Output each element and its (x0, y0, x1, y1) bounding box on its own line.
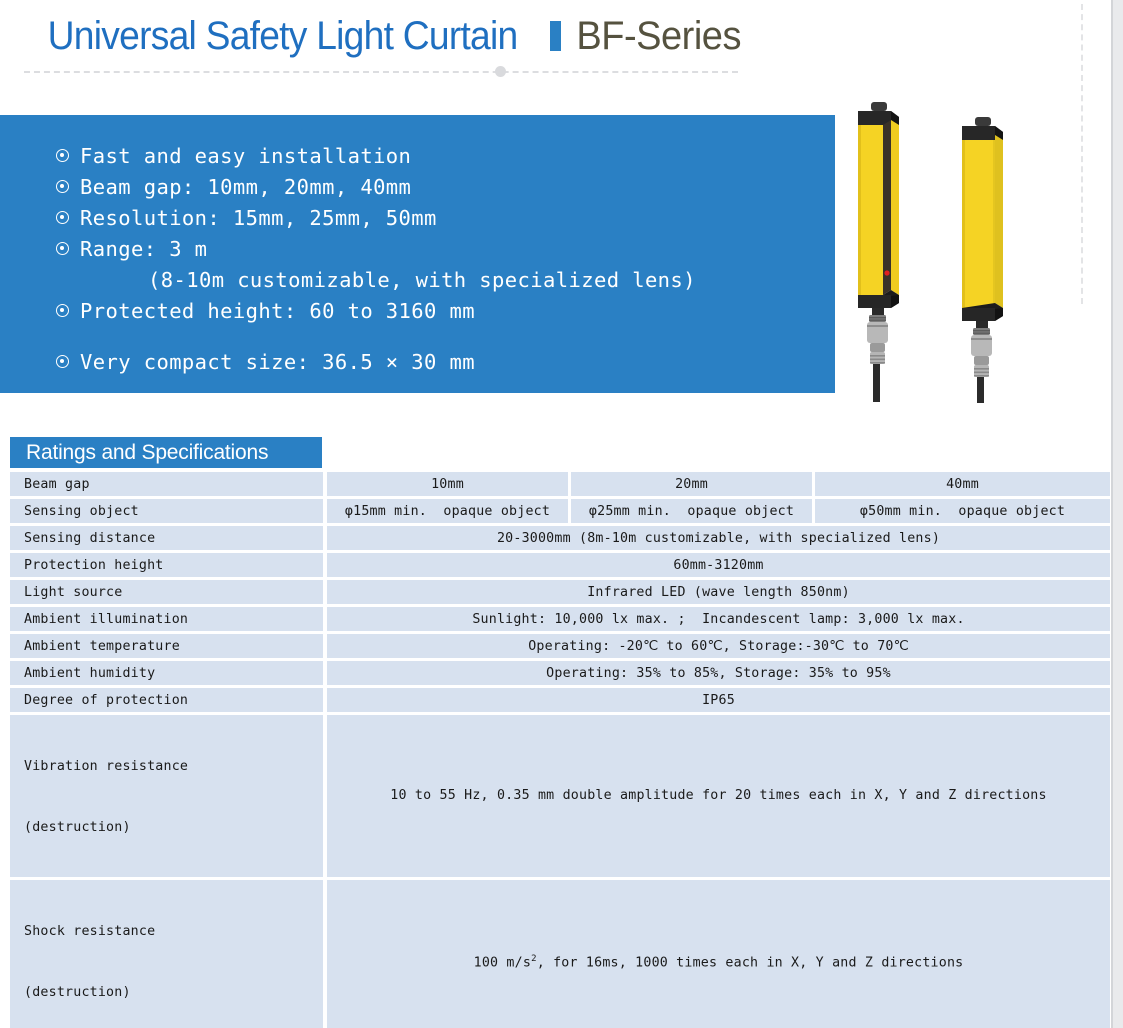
product-image (825, 95, 1075, 405)
bullet-circle-dot-icon (56, 211, 69, 224)
row-label: Sensing object (10, 499, 327, 523)
feature-item: Resolution: 15mm, 25mm, 50mm (56, 203, 816, 234)
row-label: Ambient illumination (10, 607, 327, 631)
row-value: Operating: -20℃ to 60℃, Storage:-30℃ to … (327, 634, 1110, 658)
table-row: Sensing object φ15mm min. opaque object … (10, 499, 1110, 523)
row-label-line1: Shock resistance (24, 920, 323, 941)
row-label: Ambient humidity (10, 661, 327, 685)
feature-item: Beam gap: 10mm, 20mm, 40mm (56, 172, 816, 203)
row-value: IP65 (327, 688, 1110, 712)
feature-item: Very compact size: 36.5 × 30 mm (56, 347, 816, 378)
feature-list: Fast and easy installation Beam gap: 10m… (56, 141, 816, 378)
table-row: Ambient humidity Operating: 35% to 85%, … (10, 661, 1110, 685)
row-value-40mm: φ50mm min. opaque object (815, 499, 1110, 523)
bullet-circle-dot-icon (56, 149, 69, 162)
row-label: Degree of protection (10, 688, 327, 712)
row-value-20mm: 20mm (571, 472, 815, 496)
row-label: Beam gap (10, 472, 327, 496)
row-value: 60mm-3120mm (327, 553, 1110, 577)
table-row: Sensing distance 20-3000mm (8m-10m custo… (10, 526, 1110, 550)
row-value: Operating: 35% to 85%, Storage: 35% to 9… (327, 661, 1110, 685)
feature-label: Fast and easy installation (80, 141, 411, 172)
row-value: Infrared LED (wave length 850nm) (327, 580, 1110, 604)
title-dashed-divider (24, 71, 738, 73)
table-row: Light source Infrared LED (wave length 8… (10, 580, 1110, 604)
page-fold-dashed-line (1081, 4, 1083, 304)
page-edge-strip (1113, 0, 1123, 1028)
bullet-circle-dot-icon (56, 180, 69, 193)
feature-banner: Fast and easy installation Beam gap: 10m… (0, 115, 835, 393)
table-row: Vibration resistance (destruction) 10 to… (10, 715, 1110, 877)
table-row: Shock resistance (destruction) 100 m/s2,… (10, 880, 1110, 1028)
feature-label: Very compact size: 36.5 × 30 mm (80, 347, 475, 378)
value-prefix: 100 m/s (474, 955, 531, 970)
row-label-line2: (destruction) (24, 981, 323, 1002)
row-label-line1: Vibration resistance (24, 755, 323, 776)
feature-sub-note: (8-10m customizable, with specialized le… (56, 265, 816, 296)
title-series-text: BF-Series (576, 14, 741, 59)
bullet-circle-dot-icon (56, 304, 69, 317)
table-row: Protection height 60mm-3120mm (10, 553, 1110, 577)
feature-item: Fast and easy installation (56, 141, 816, 172)
row-label: Light source (10, 580, 327, 604)
feature-label: Beam gap: 10mm, 20mm, 40mm (80, 172, 411, 203)
title-divider-dot (495, 66, 506, 77)
row-value-10mm: 10mm (327, 472, 571, 496)
feature-label: Range: 3 m (80, 234, 207, 265)
bullet-circle-dot-icon (56, 355, 69, 368)
row-label: Vibration resistance (destruction) (10, 715, 327, 877)
row-value-40mm: 40mm (815, 472, 1110, 496)
specifications-table: Beam gap 10mm 20mm 40mm Sensing object φ… (10, 469, 1110, 1028)
row-label: Ambient temperature (10, 634, 327, 658)
title-main-text: Universal Safety Light Curtain (48, 14, 518, 59)
table-row: Ambient illumination Sunlight: 10,000 lx… (10, 607, 1110, 631)
feature-item: Range: 3 m (56, 234, 816, 265)
value-suffix: , for 16ms, 1000 times each in X, Y and … (537, 955, 964, 970)
light-curtain-sensor-illustration (825, 95, 1075, 405)
table-row: Beam gap 10mm 20mm 40mm (10, 472, 1110, 496)
row-label: Sensing distance (10, 526, 327, 550)
feature-item: Protected height: 60 to 3160 mm (56, 296, 816, 327)
row-label: Protection height (10, 553, 327, 577)
feature-label: Resolution: 15mm, 25mm, 50mm (80, 203, 437, 234)
row-label-line2: (destruction) (24, 816, 323, 837)
row-value: 100 m/s2, for 16ms, 1000 times each in X… (327, 880, 1110, 1028)
row-value-10mm: φ15mm min. opaque object (327, 499, 571, 523)
row-value: 10 to 55 Hz, 0.35 mm double amplitude fo… (327, 715, 1110, 877)
row-value-20mm: φ25mm min. opaque object (571, 499, 815, 523)
table-row: Degree of protection IP65 (10, 688, 1110, 712)
feature-label: Protected height: 60 to 3160 mm (80, 296, 475, 327)
row-label: Shock resistance (destruction) (10, 880, 327, 1028)
title-separator-bar (550, 21, 561, 51)
document-page: Universal Safety Light Curtain BF-Series… (0, 0, 1123, 1028)
bullet-circle-dot-icon (56, 242, 69, 255)
row-value: Sunlight: 10,000 lx max. ; Incandescent … (327, 607, 1110, 631)
section-title-ratings-and-specifications: Ratings and Specifications (10, 437, 322, 468)
page-title: Universal Safety Light Curtain BF-Series (30, 14, 745, 59)
table-row: Ambient temperature Operating: -20℃ to 6… (10, 634, 1110, 658)
row-value: 20-3000mm (8m-10m customizable, with spe… (327, 526, 1110, 550)
